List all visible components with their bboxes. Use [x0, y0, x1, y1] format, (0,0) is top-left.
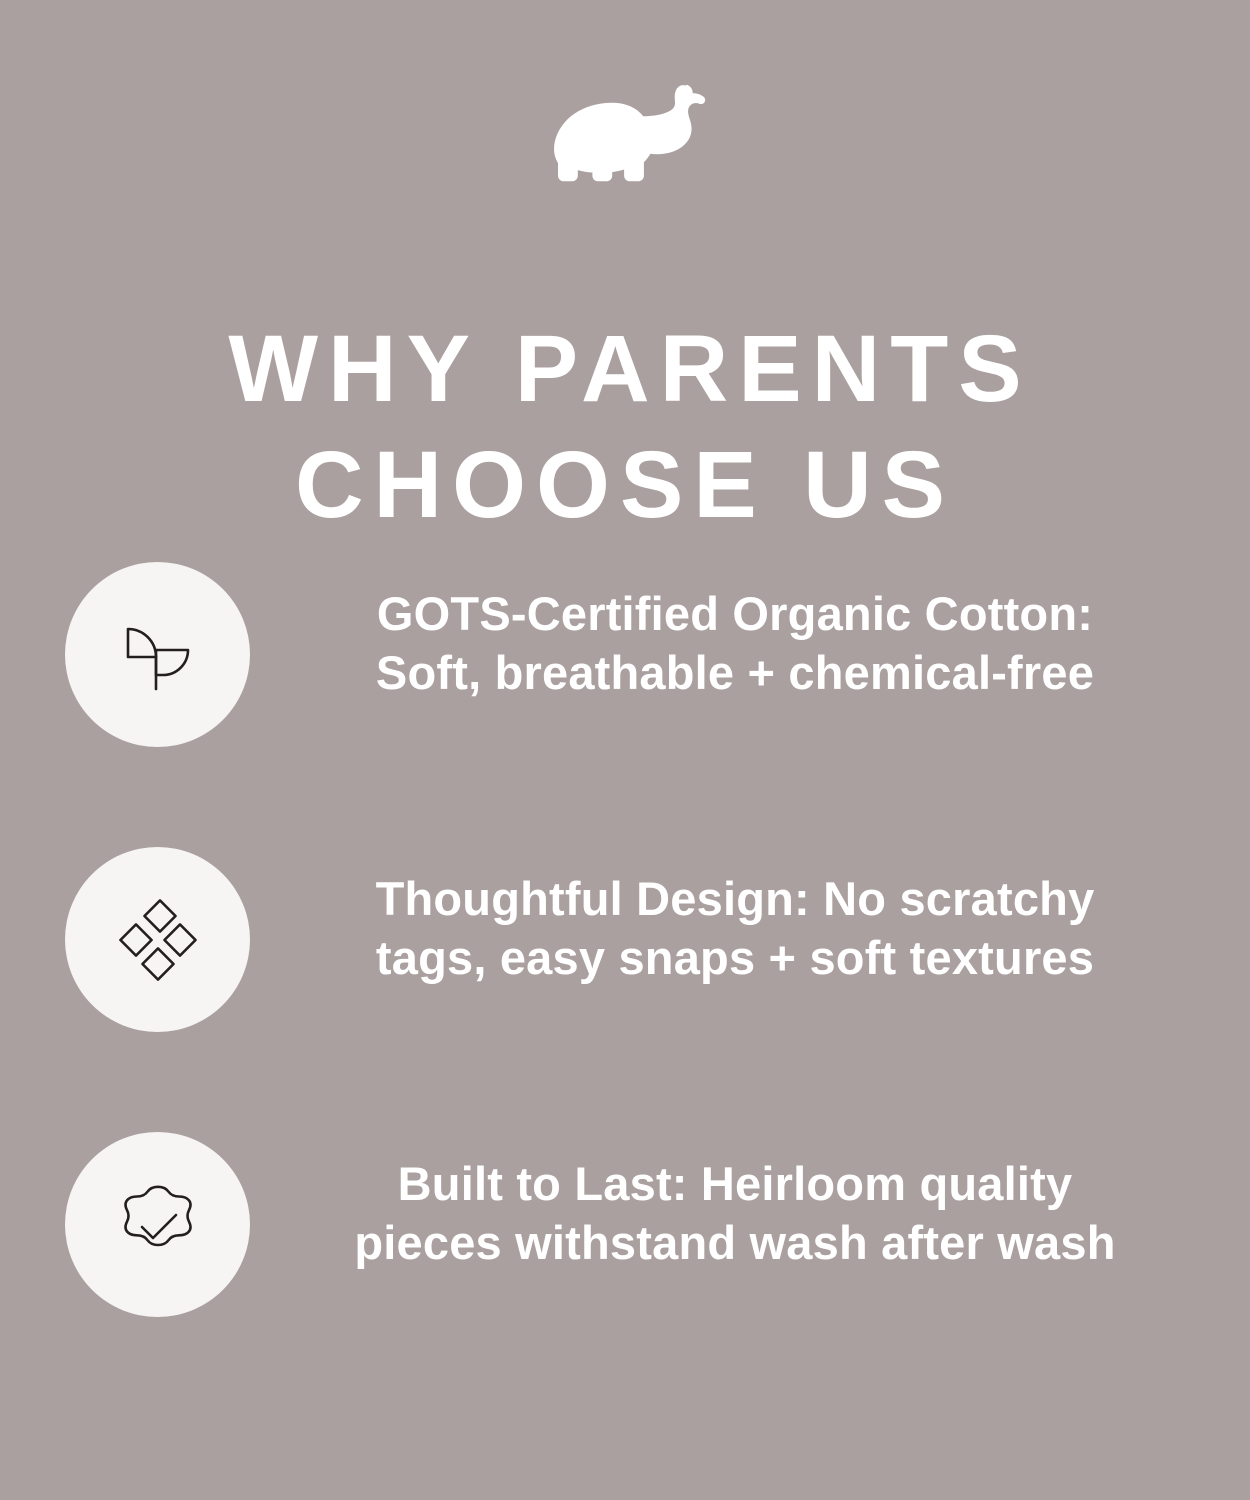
- feature-icon-badge: [65, 1132, 250, 1317]
- list-item: GOTS-Certified Organic Cotton: Soft, bre…: [0, 540, 1250, 825]
- rosette-check-badge-icon: [108, 1175, 208, 1275]
- leaf-sprout-icon: [110, 607, 206, 703]
- feature-list: GOTS-Certified Organic Cotton: Soft, bre…: [0, 540, 1250, 1395]
- feature-text: Thoughtful Design: No scratchy tags, eas…: [290, 869, 1180, 987]
- list-item: Built to Last: Heirloom quality pieces w…: [0, 1110, 1250, 1395]
- feature-icon-badge: [65, 562, 250, 747]
- elephant-icon: [535, 77, 715, 197]
- list-item: Thoughtful Design: No scratchy tags, eas…: [0, 825, 1250, 1110]
- feature-text: Built to Last: Heirloom quality pieces w…: [290, 1154, 1180, 1272]
- page-title: WHY PARENTS CHOOSE US: [0, 311, 1250, 543]
- feature-icon-badge: [65, 847, 250, 1032]
- feature-text: GOTS-Certified Organic Cotton: Soft, bre…: [290, 584, 1180, 702]
- four-diamonds-icon: [110, 892, 206, 988]
- why-parents-choose-us-panel: WHY PARENTS CHOOSE US GOTS-Certified Org…: [0, 0, 1250, 1500]
- brand-logo: [0, 72, 1250, 202]
